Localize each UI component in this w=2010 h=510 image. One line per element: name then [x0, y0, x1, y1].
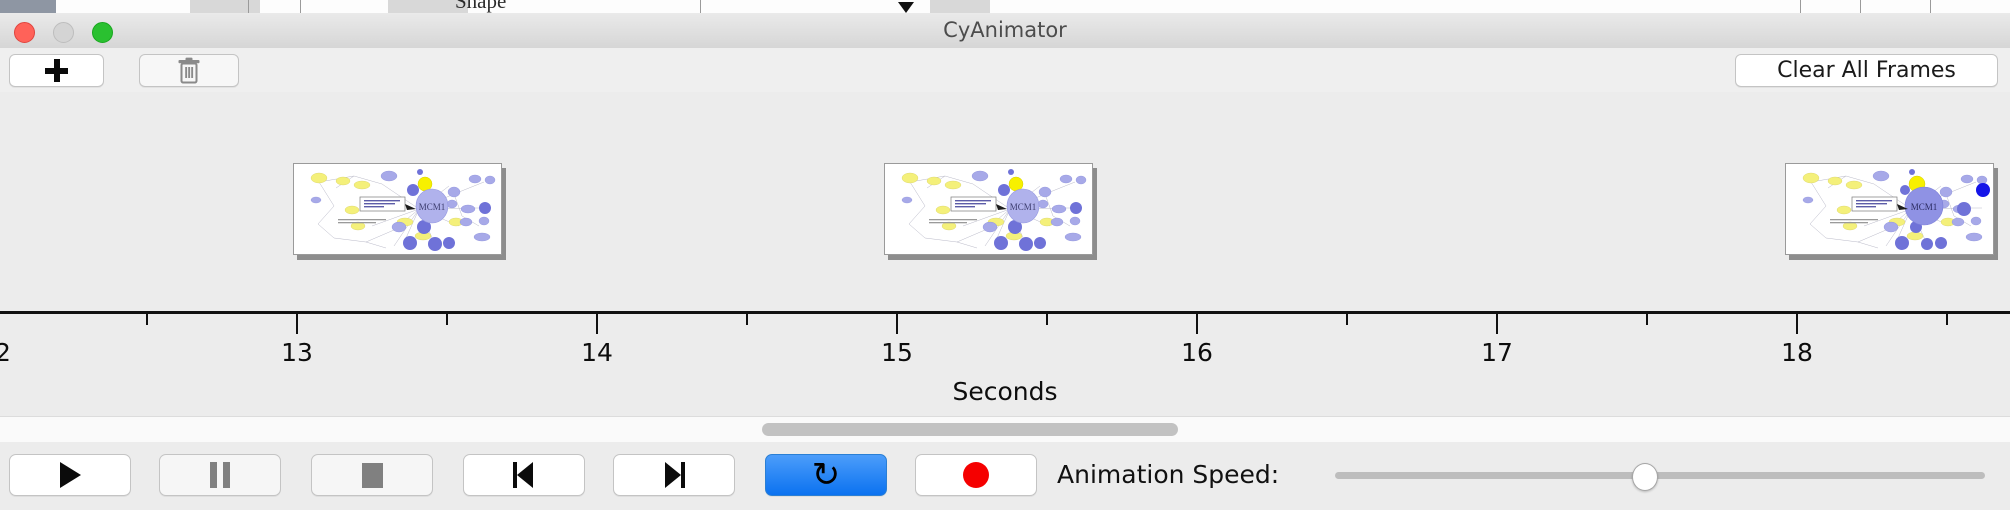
frame-image: MCM1	[293, 163, 502, 255]
frame-thumbnail-2[interactable]: MCM1	[884, 163, 1097, 260]
network-graph-icon: MCM1	[1786, 164, 1993, 254]
frame-thumbnail-1[interactable]: MCM1	[293, 163, 506, 260]
background-block-a	[190, 0, 260, 13]
skip-forward-icon	[661, 462, 687, 488]
playback-control-bar: ↻ Animation Speed:	[0, 442, 2010, 510]
axis-major-tick	[1196, 314, 1198, 334]
clear-all-frames-button[interactable]: Clear All Frames	[1735, 54, 1998, 87]
skip-back-icon	[511, 462, 537, 488]
frame-node-label: MCM1	[1911, 202, 1938, 212]
axis-major-tick	[296, 314, 298, 334]
background-tick-c	[700, 0, 701, 13]
axis-major-tick	[896, 314, 898, 334]
background-block-c	[930, 0, 990, 13]
skip-to-start-button[interactable]	[463, 454, 585, 496]
background-dark-block	[0, 0, 56, 13]
play-button[interactable]	[9, 454, 131, 496]
timeline-axis	[0, 311, 2010, 314]
network-graph-icon: MCM1	[294, 164, 501, 254]
background-window-label: Shape	[455, 0, 506, 14]
skip-to-end-button[interactable]	[613, 454, 735, 496]
axis-minor-tick	[1946, 314, 1948, 325]
axis-minor-tick	[146, 314, 148, 325]
axis-major-tick	[1496, 314, 1498, 334]
animation-speed-slider-knob[interactable]	[1632, 463, 1658, 491]
animation-speed-slider[interactable]	[1335, 472, 1985, 479]
axis-tick-label: 2	[0, 338, 11, 367]
timeline-scrollbar-thumb[interactable]	[762, 423, 1178, 436]
frame-node-label: MCM1	[1010, 202, 1037, 212]
timeline-panel[interactable]: MCM1	[0, 92, 2010, 416]
axis-title: Seconds	[0, 377, 2010, 406]
axis-tick-label: 16	[1181, 338, 1213, 367]
axis-tick-label: 14	[581, 338, 613, 367]
axis-minor-tick	[1646, 314, 1648, 325]
loop-icon: ↻	[812, 458, 841, 492]
axis-minor-tick	[446, 314, 448, 325]
background-tick-a	[248, 0, 249, 13]
axis-tick-label: 15	[881, 338, 913, 367]
window-title: CyAnimator	[0, 13, 2010, 48]
stop-button[interactable]	[311, 454, 433, 496]
delete-frame-button[interactable]	[139, 54, 239, 87]
play-icon	[60, 462, 81, 488]
timeline-scrollbar[interactable]	[0, 416, 2010, 443]
axis-major-tick	[1796, 314, 1798, 334]
axis-tick-label: 18	[1781, 338, 1813, 367]
pause-button[interactable]	[159, 454, 281, 496]
frame-image: MCM1	[1785, 163, 1994, 255]
animation-speed-label: Animation Speed:	[1057, 454, 1279, 496]
background-tick-f	[1930, 0, 1931, 13]
axis-minor-tick	[1046, 314, 1048, 325]
axis-minor-tick	[1346, 314, 1348, 325]
title-bar[interactable]: CyAnimator	[0, 13, 2010, 49]
add-frame-button[interactable]	[9, 54, 104, 87]
axis-major-tick	[596, 314, 598, 334]
frame-image: MCM1	[884, 163, 1093, 255]
network-graph-icon: MCM1	[885, 164, 1092, 254]
cyanimator-window: Shape CyAnimator Clear All Frames	[0, 0, 2010, 510]
background-tick-d	[1800, 0, 1801, 13]
axis-tick-label: 13	[281, 338, 313, 367]
frame-node-label: MCM1	[419, 202, 446, 212]
frame-thumbnail-3[interactable]: MCM1	[1785, 163, 1998, 260]
trash-icon	[177, 57, 201, 84]
background-window-strip: Shape	[0, 0, 2010, 14]
frame-toolbar: Clear All Frames	[0, 48, 2010, 93]
record-icon	[963, 462, 989, 488]
axis-tick-label: 17	[1481, 338, 1513, 367]
record-button[interactable]	[915, 454, 1037, 496]
pause-icon	[210, 462, 230, 488]
loop-button[interactable]: ↻	[765, 454, 887, 496]
background-tick-e	[1860, 0, 1861, 13]
stop-icon	[362, 463, 383, 488]
background-tick-b	[300, 0, 301, 13]
plus-icon	[45, 59, 68, 82]
background-marker-icon	[898, 2, 914, 13]
axis-minor-tick	[746, 314, 748, 325]
